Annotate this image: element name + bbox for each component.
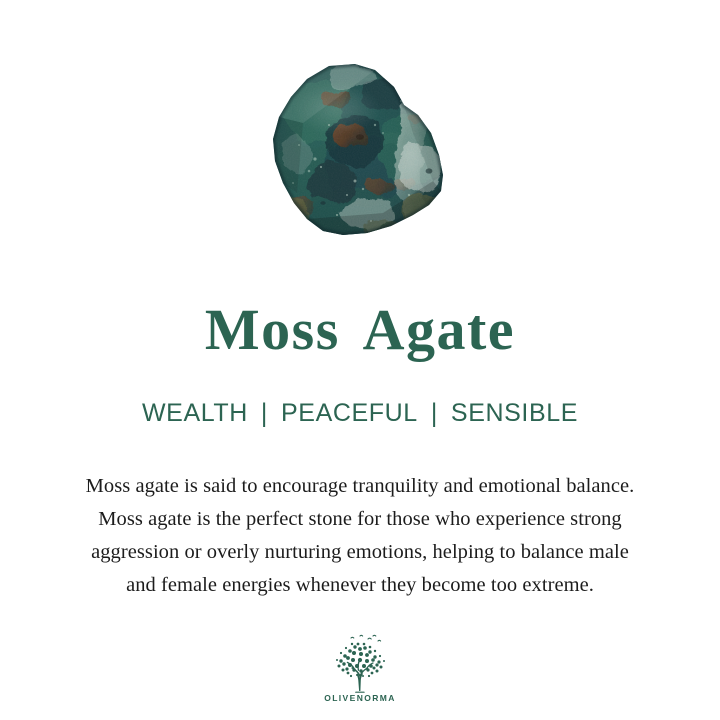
stone-image-container (0, 62, 720, 242)
keyword-wealth: WEALTH (142, 398, 248, 428)
moss-agate-stone-icon (263, 63, 458, 241)
tree-icon (327, 633, 393, 693)
keyword-separator-2: | (418, 397, 451, 429)
brand-logo: OLIVENORMA (0, 633, 720, 703)
keyword-list: WEALTH|PEACEFUL|SENSIBLE (0, 398, 720, 428)
page-title: Moss Agate (0, 300, 720, 361)
description-line-4: and female energies whenever they become… (30, 569, 690, 602)
description-line-3: aggression or overly nurturing emotions,… (30, 536, 690, 569)
description-line-2: Moss agate is the perfect stone for thos… (30, 503, 690, 536)
keyword-separator-1: | (248, 397, 281, 429)
keyword-sensible: SENSIBLE (451, 398, 578, 428)
brand-wordmark: OLIVENORMA (324, 694, 396, 703)
description-text: Moss agate is said to encourage tranquil… (30, 470, 690, 602)
product-info-card: Moss Agate WEALTH|PEACEFUL|SENSIBLE Moss… (0, 0, 720, 720)
description-line-1: Moss agate is said to encourage tranquil… (30, 470, 690, 503)
keyword-peaceful: PEACEFUL (281, 398, 418, 428)
